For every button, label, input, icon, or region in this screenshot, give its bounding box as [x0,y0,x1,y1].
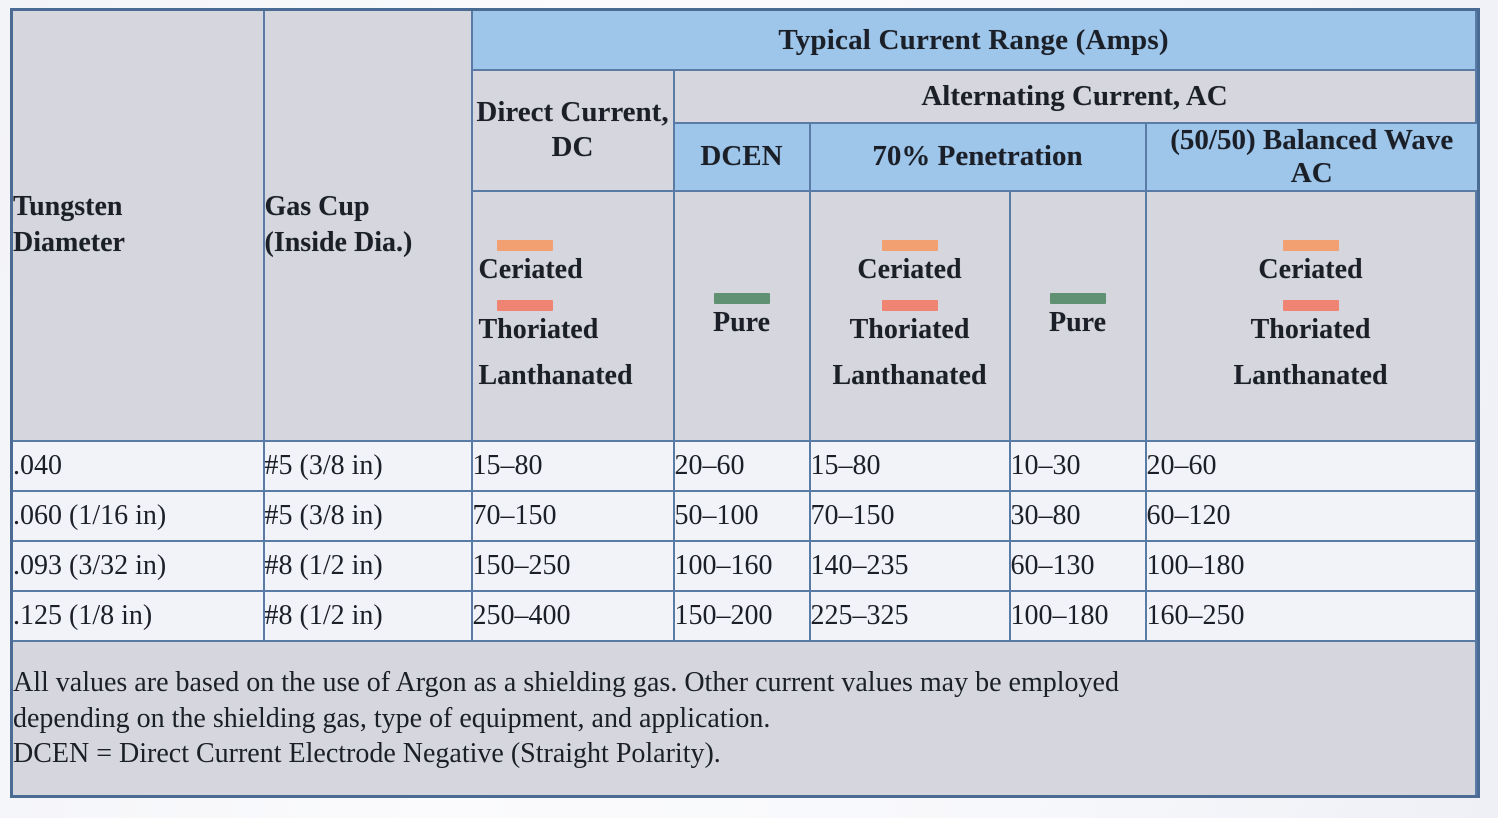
header-typical-current-range: Typical Current Range (Amps) [472,10,1476,71]
cell-dcen: 250–400 [472,591,674,641]
electrode-legend-entry: Lanthanated [1147,360,1475,392]
cell-tungsten-diameter: .060 (1/16 in) [12,491,264,541]
cell-gas-cup: #5 (3/8 in) [264,491,472,541]
header-dcen: DCEN [674,123,810,191]
table-row: .060 (1/16 in)#5 (3/8 in)70–15050–10070–… [12,491,1479,541]
cell-acbal-alloy: 100–180 [1146,541,1476,591]
electrode-name-label: Lanthanated [1147,360,1475,392]
electrode-legend-entry: Pure [675,293,809,339]
gas-cup-line2: (Inside Dia.) [265,225,471,261]
electrode-color-swatch-thoriated [1283,300,1339,311]
cell-acbal-pure: 10–30 [1010,441,1146,491]
page-root: Tungsten Diameter Gas Cup (Inside Dia.) … [0,0,1498,818]
direct-current-line1: Direct [476,96,553,128]
cell-ac70-pure: 20–60 [674,441,810,491]
cell-tungsten-diameter: .125 (1/8 in) [12,591,264,641]
header-electrodes-acbal: CeriatedThoriatedLanthanated [1146,191,1476,441]
electrode-legend-entry: Lanthanated [479,360,673,392]
electrode-name-label: Ceriated [479,254,673,286]
cell-acbal-alloy: 60–120 [1146,491,1476,541]
table-row: .125 (1/8 in)#8 (1/2 in)250–400150–20022… [12,591,1479,641]
cell-ac70-pure: 150–200 [674,591,810,641]
tungsten-diameter-line2: Diameter [13,225,263,261]
cell-tungsten-diameter: .040 [12,441,264,491]
header-tungsten-diameter: Tungsten Diameter [12,10,264,441]
table-footnote: All values are based on the use of Argon… [12,641,1476,797]
footnote-line2: depending on the shielding gas, type of … [13,701,1475,737]
electrode-name-label: Lanthanated [811,360,1009,392]
header-balanced-wave-ac: (50/50) Balanced Wave AC [1146,123,1479,191]
header-row-title: Tungsten Diameter Gas Cup (Inside Dia.) … [12,10,1479,71]
header-gas-cup: Gas Cup (Inside Dia.) [264,10,472,441]
footnote-row: All values are based on the use of Argon… [12,641,1479,797]
electrode-name-label: Thoriated [811,314,1009,346]
cell-acbal-pure: 30–80 [1010,491,1146,541]
cell-ac70-pure: 50–100 [674,491,810,541]
electrode-color-swatch-thoriated [497,300,553,311]
header-70-penetration: 70% Penetration [810,123,1146,191]
cell-dcen: 70–150 [472,491,674,541]
electrode-color-swatch-ceriated [1283,240,1339,251]
cell-ac70-alloy: 225–325 [810,591,1010,641]
electrode-name-label: Pure [1011,307,1145,339]
cell-acbal-pure: 60–130 [1010,541,1146,591]
electrode-color-swatch-pure [1050,293,1106,304]
welding-parameters-table-wrapper: Tungsten Diameter Gas Cup (Inside Dia.) … [10,8,1480,798]
alternating-current-line2: AC [1186,80,1228,112]
cell-dcen: 150–250 [472,541,674,591]
electrode-color-swatch-thoriated [882,300,938,311]
header-electrodes-acbal-pure: Pure [1010,191,1146,441]
electrode-name-label: Pure [675,307,809,339]
electrode-legend-entry: Thoriated [811,300,1009,346]
cell-acbal-alloy: 160–250 [1146,591,1476,641]
electrode-name-label: Ceriated [1147,254,1475,286]
header-alternating-current: Alternating Current, AC [674,70,1476,123]
tungsten-current-range-table: Tungsten Diameter Gas Cup (Inside Dia.) … [10,8,1480,798]
cell-ac70-alloy: 140–235 [810,541,1010,591]
electrode-legend-entry: Ceriated [479,240,673,286]
cell-tungsten-diameter: .093 (3/32 in) [12,541,264,591]
cell-acbal-alloy: 20–60 [1146,441,1476,491]
cell-ac70-alloy: 15–80 [810,441,1010,491]
gas-cup-line1: Gas Cup [265,189,471,225]
electrode-color-swatch-ceriated [497,240,553,251]
table-row: .093 (3/32 in)#8 (1/2 in)150–250100–1601… [12,541,1479,591]
footnote-line3: DCEN = Direct Current Electrode Negative… [13,736,1475,772]
alternating-current-line1: Alternating Current, [921,80,1180,112]
cell-ac70-alloy: 70–150 [810,491,1010,541]
header-electrodes-ac70: CeriatedThoriatedLanthanated [810,191,1010,441]
direct-current-line2: Current, DC [552,96,669,163]
cell-gas-cup: #8 (1/2 in) [264,591,472,641]
cell-ac70-pure: 100–160 [674,541,810,591]
electrode-name-label: Thoriated [479,314,673,346]
electrode-name-label: Thoriated [1147,314,1475,346]
electrode-legend-entry: Thoriated [479,300,673,346]
header-electrodes-ac70-pure: Pure [674,191,810,441]
electrode-name-label: Lanthanated [479,360,673,392]
cell-acbal-pure: 100–180 [1010,591,1146,641]
cell-gas-cup: #5 (3/8 in) [264,441,472,491]
electrode-legend-entry: Ceriated [811,240,1009,286]
header-electrodes-dcen: CeriatedThoriatedLanthanated [472,191,674,441]
electrode-name-label: Ceriated [811,254,1009,286]
header-direct-current: Direct Current, DC [472,70,674,191]
electrode-legend-entry: Thoriated [1147,300,1475,346]
cell-gas-cup: #8 (1/2 in) [264,541,472,591]
electrode-legend-entry: Ceriated [1147,240,1475,286]
electrode-color-swatch-ceriated [882,240,938,251]
cell-dcen: 15–80 [472,441,674,491]
tungsten-diameter-line1: Tungsten [13,189,263,225]
footnote-line1: All values are based on the use of Argon… [13,665,1475,701]
table-row: .040#5 (3/8 in)15–8020–6015–8010–3020–60 [12,441,1479,491]
electrode-legend-entry: Lanthanated [811,360,1009,392]
electrode-color-swatch-pure [714,293,770,304]
electrode-legend-entry: Pure [1011,293,1145,339]
